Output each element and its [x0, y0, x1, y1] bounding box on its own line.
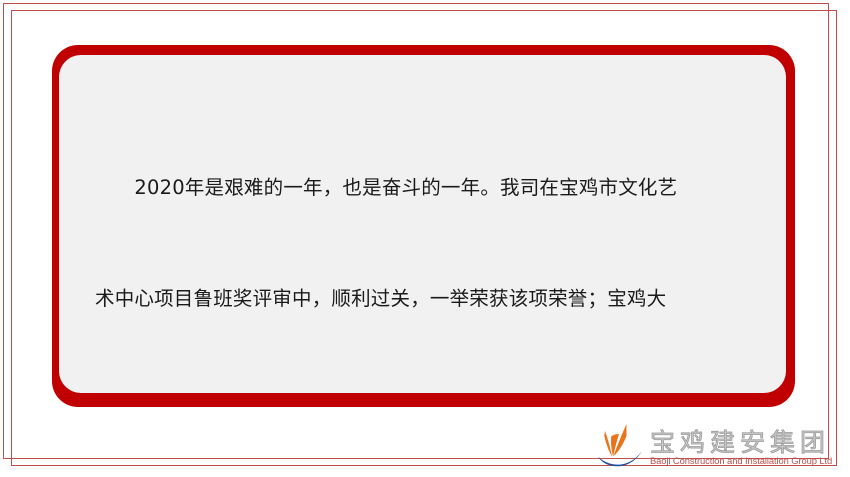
body-paragraph: 2020年是艰难的一年，也是奋斗的一年。我司在宝鸡市文化艺 术中心项目鲁班奖评审… [95, 95, 748, 393]
body-line: 术中心项目鲁班奖评审中，顺利过关，一举荣获该项荣誉；宝鸡大 [95, 280, 748, 317]
company-logo: 宝鸡建安集团 Baoji Construction and Installati… [596, 419, 846, 475]
content-card: 2020年是艰难的一年，也是奋斗的一年。我司在宝鸡市文化艺 术中心项目鲁班奖评审… [59, 55, 786, 393]
body-line: 剧院装饰装修项目的按期竣工，为陕西省第九届艺术节的顺利召开 [95, 391, 748, 393]
baoji-group-sail-flame-icon [596, 422, 644, 472]
company-name-cn: 宝鸡建安集团 [650, 429, 834, 456]
company-name-en: Baoji Construction and Installation Grou… [650, 456, 832, 468]
company-logo-text: 宝鸡建安集团 Baoji Construction and Installati… [650, 427, 834, 468]
body-line: 2020年是艰难的一年，也是奋斗的一年。我司在宝鸡市文化艺 [95, 169, 748, 206]
slide-canvas: 2020年是艰难的一年，也是奋斗的一年。我司在宝鸡市文化艺 术中心项目鲁班奖评审… [0, 0, 850, 477]
